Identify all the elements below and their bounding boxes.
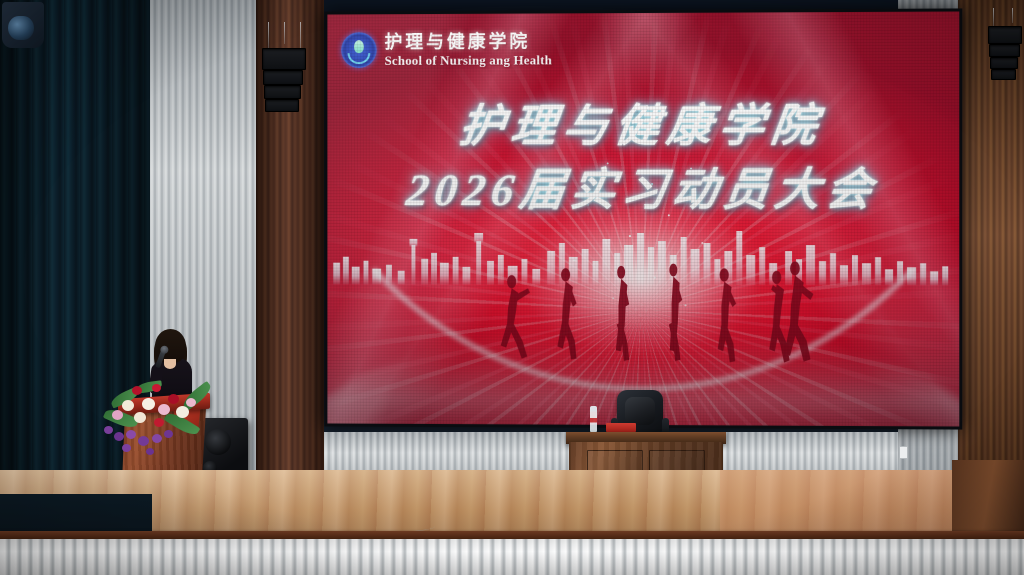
flower-purple bbox=[104, 426, 113, 434]
flower-pink bbox=[186, 398, 196, 407]
stage-spotlight-icon bbox=[2, 2, 44, 48]
logo-text-block: 护理与健康学院 School of Nursing ang Health bbox=[385, 32, 552, 67]
red-nameplate bbox=[606, 423, 636, 432]
flower-purple bbox=[164, 430, 173, 438]
hanging-line-array-speaker-left bbox=[262, 22, 306, 118]
nursing-health-emblem-icon bbox=[341, 32, 377, 68]
led-screen-content: 护理与健康学院 School of Nursing ang Health 护理与… bbox=[327, 11, 959, 426]
floral-arrangement bbox=[102, 374, 222, 460]
flower-purple bbox=[152, 434, 162, 443]
speaker-module bbox=[263, 70, 303, 85]
flower-red bbox=[168, 394, 179, 404]
flower-red bbox=[152, 384, 161, 392]
speaker-module bbox=[264, 85, 301, 99]
flower-red bbox=[154, 418, 164, 427]
flower-pink bbox=[112, 410, 123, 420]
flower-cream bbox=[134, 412, 146, 423]
flower-purple bbox=[114, 432, 124, 441]
speaker-module bbox=[989, 44, 1020, 57]
speaker-wire bbox=[1012, 8, 1013, 23]
screen-title-main: 护理与健康学院 bbox=[327, 100, 959, 152]
running-figures-icon bbox=[490, 252, 819, 380]
screen-title-sub: 2026届实习动员大会 bbox=[327, 165, 959, 216]
speaker-module bbox=[262, 48, 306, 70]
wall-outlet-icon bbox=[899, 446, 908, 459]
speaker-module bbox=[991, 69, 1016, 80]
speaker-wire bbox=[268, 22, 269, 48]
led-display-screen[interactable]: 护理与健康学院 School of Nursing ang Health 护理与… bbox=[324, 8, 962, 429]
flower-purple bbox=[138, 436, 149, 446]
presenter-neckline bbox=[164, 359, 176, 369]
speaker-wire bbox=[284, 22, 285, 44]
flower-cream bbox=[122, 400, 134, 411]
screen-title-block: 护理与健康学院 2026届实习动员大会 bbox=[327, 100, 959, 216]
logo-chinese-name: 护理与健康学院 bbox=[385, 32, 552, 51]
flower-cream bbox=[142, 398, 155, 410]
water-bottle-icon bbox=[590, 406, 597, 432]
stage-front-vent-grille bbox=[0, 539, 1024, 575]
speaker-module bbox=[988, 26, 1022, 44]
flower-pink bbox=[158, 404, 170, 415]
stage-edge-trim bbox=[0, 531, 1024, 539]
flower-purple bbox=[122, 444, 131, 452]
spotlight-lens bbox=[8, 16, 34, 40]
auditorium-scene: 护理与健康学院 School of Nursing ang Health 护理与… bbox=[0, 0, 1024, 575]
flower-red bbox=[132, 386, 142, 395]
speaker-module bbox=[265, 99, 299, 112]
flower-purple bbox=[146, 448, 154, 455]
speaker-module bbox=[990, 57, 1018, 69]
speaker-wire bbox=[993, 8, 994, 26]
flower-purple bbox=[126, 430, 136, 439]
flower-cream bbox=[176, 406, 189, 418]
stage-right-wood-base bbox=[952, 460, 1024, 540]
logo-english-name: School of Nursing ang Health bbox=[385, 53, 552, 67]
screen-logo-block: 护理与健康学院 School of Nursing ang Health bbox=[341, 31, 552, 68]
hanging-line-array-speaker-right bbox=[988, 8, 1022, 84]
